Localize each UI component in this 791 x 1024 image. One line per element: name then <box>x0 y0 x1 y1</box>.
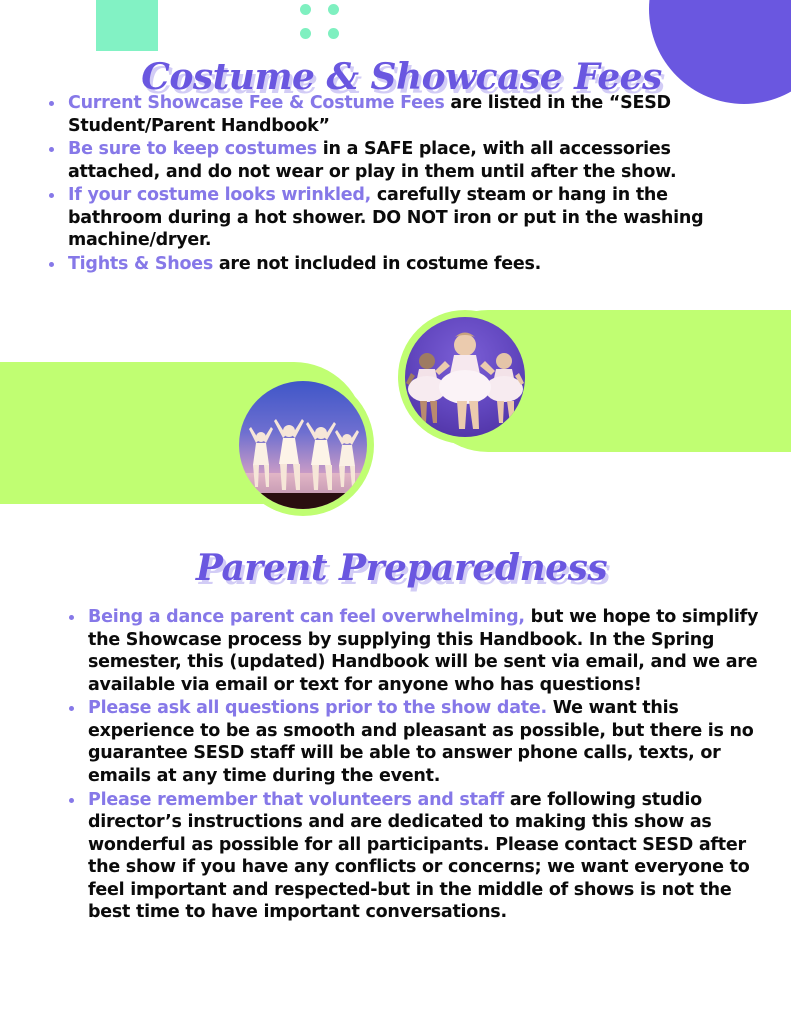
parent-preparedness-bullet-list: Being a dance parent can feel overwhelmi… <box>62 606 762 925</box>
photo-ballerinas-image <box>405 317 525 437</box>
list-item-text: are not included in costume fees. <box>213 254 541 274</box>
list-item-highlight: Be sure to keep costumes <box>68 139 317 159</box>
photo-band <box>0 300 791 530</box>
green-rectangle-decoration <box>96 0 158 51</box>
dot-grid-decoration <box>300 4 342 36</box>
dancers-arms-raised-illustration <box>239 381 367 509</box>
list-item: Be sure to keep costumes in a SAFE place… <box>42 138 758 183</box>
dot-icon <box>328 4 339 15</box>
dot-icon <box>328 28 339 39</box>
list-item-highlight: Tights & Shoes <box>68 254 213 274</box>
list-item-highlight: If your costume looks wrinkled, <box>68 185 371 205</box>
photo-group-arms-image <box>239 381 367 509</box>
list-item-highlight: Current Showcase Fee & Costume Fees <box>68 93 445 113</box>
list-item: Please remember that volunteers and staf… <box>62 789 762 924</box>
list-item-highlight: Being a dance parent can feel overwhelmi… <box>88 607 525 627</box>
page-title-parent-preparedness: Parent Preparedness <box>6 547 791 589</box>
dot-icon <box>300 28 311 39</box>
list-item: Tights & Shoes are not included in costu… <box>42 253 758 276</box>
list-item-highlight: Please ask all questions prior to the sh… <box>88 698 547 718</box>
ballerinas-illustration <box>405 317 525 437</box>
list-item: Please ask all questions prior to the sh… <box>62 697 762 787</box>
dot-icon <box>300 4 311 15</box>
list-item-highlight: Please remember that volunteers and staf… <box>88 790 504 810</box>
list-item: Current Showcase Fee & Costume Fees are … <box>42 92 758 137</box>
list-item: Being a dance parent can feel overwhelmi… <box>62 606 762 696</box>
list-item: If your costume looks wrinkled, carefull… <box>42 184 758 252</box>
photo-ballerinas <box>398 310 532 444</box>
costume-fees-bullet-list: Current Showcase Fee & Costume Fees are … <box>42 92 758 277</box>
photo-group-arms <box>232 374 374 516</box>
